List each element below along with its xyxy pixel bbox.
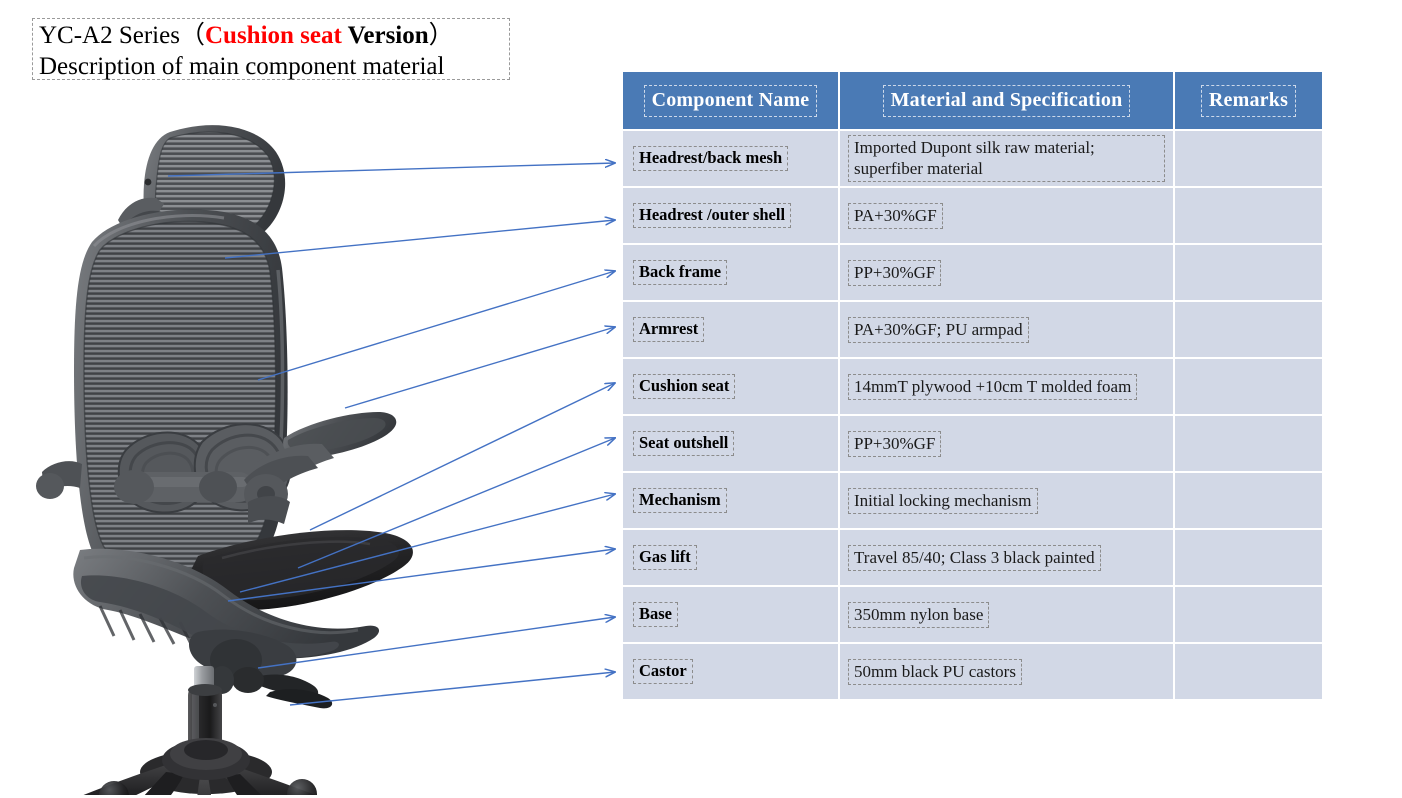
material-spec-value: Travel 85/40; Class 3 black painted [848, 545, 1101, 571]
cell-material-spec: 350mm nylon base [839, 586, 1174, 643]
material-spec-value: PA+30%GF; PU armpad [848, 317, 1029, 343]
cell-material-spec: Travel 85/40; Class 3 black painted [839, 529, 1174, 586]
material-spec-value: PP+30%GF [848, 431, 941, 457]
cell-component-name: Cushion seat [622, 358, 839, 415]
title-series: YC-A2 Series [39, 22, 180, 49]
poster-canvas: YC-A2 Series（Cushion seat Version） Descr… [0, 0, 1402, 798]
cell-remarks [1174, 358, 1323, 415]
table-row: Seat outshellPP+30%GF [622, 415, 1323, 472]
cell-material-spec: PA+30%GF [839, 187, 1174, 244]
header-component-name: Component Name [622, 71, 839, 130]
table-row: Headrest/back meshImported Dupont silk r… [622, 130, 1323, 187]
cell-material-spec: PP+30%GF [839, 244, 1174, 301]
table-header-row: Component Name Material and Specificatio… [622, 71, 1323, 130]
component-name-value: Castor [633, 659, 693, 684]
cell-component-name: Castor [622, 643, 839, 700]
cell-component-name: Base [622, 586, 839, 643]
chair-product-image [22, 120, 432, 795]
title-paren-open: （ [180, 22, 205, 49]
cell-material-spec: 14mmT plywood +10cm T molded foam [839, 358, 1174, 415]
material-spec-value: PP+30%GF [848, 260, 941, 286]
cell-remarks [1174, 529, 1323, 586]
header-remarks: Remarks [1174, 71, 1323, 130]
cell-component-name: Armrest [622, 301, 839, 358]
component-name-value: Headrest /outer shell [633, 203, 791, 228]
component-name-value: Cushion seat [633, 374, 735, 399]
cell-remarks [1174, 301, 1323, 358]
component-name-value: Headrest/back mesh [633, 146, 788, 171]
material-spec-value: Imported Dupont silk raw material; super… [848, 135, 1165, 182]
table-row: Back framePP+30%GF [622, 244, 1323, 301]
table-row: Cushion seat14mmT plywood +10cm T molded… [622, 358, 1323, 415]
table-body: Headrest/back meshImported Dupont silk r… [622, 130, 1323, 700]
cell-material-spec: PA+30%GF; PU armpad [839, 301, 1174, 358]
cell-component-name: Seat outshell [622, 415, 839, 472]
table-row: ArmrestPA+30%GF; PU armpad [622, 301, 1323, 358]
cell-material-spec: Initial locking mechanism [839, 472, 1174, 529]
header-remarks-label: Remarks [1201, 85, 1296, 117]
cell-component-name: Back frame [622, 244, 839, 301]
cell-remarks [1174, 187, 1323, 244]
table-row: Base350mm nylon base [622, 586, 1323, 643]
cell-component-name: Headrest/back mesh [622, 130, 839, 187]
component-name-value: Seat outshell [633, 431, 734, 456]
cell-material-spec: Imported Dupont silk raw material; super… [839, 130, 1174, 187]
header-material-spec: Material and Specification [839, 71, 1174, 130]
cell-material-spec: PP+30%GF [839, 415, 1174, 472]
cell-remarks [1174, 244, 1323, 301]
table-row: MechanismInitial locking mechanism [622, 472, 1323, 529]
material-spec-value: 50mm black PU castors [848, 659, 1022, 685]
cell-remarks [1174, 130, 1323, 187]
cell-remarks [1174, 472, 1323, 529]
cell-component-name: Gas lift [622, 529, 839, 586]
header-component-name-label: Component Name [644, 85, 818, 117]
material-spec-value: 14mmT plywood +10cm T molded foam [848, 374, 1137, 400]
header-material-spec-label: Material and Specification [883, 85, 1131, 117]
title-block: YC-A2 Series（Cushion seat Version） Descr… [32, 18, 510, 80]
cell-component-name: Mechanism [622, 472, 839, 529]
component-name-value: Back frame [633, 260, 727, 285]
component-name-value: Base [633, 602, 678, 627]
cell-material-spec: 50mm black PU castors [839, 643, 1174, 700]
cell-remarks [1174, 586, 1323, 643]
material-spec-value: Initial locking mechanism [848, 488, 1038, 514]
table-row: Gas liftTravel 85/40; Class 3 black pain… [622, 529, 1323, 586]
cell-component-name: Headrest /outer shell [622, 187, 839, 244]
material-spec-value: 350mm nylon base [848, 602, 989, 628]
title-line-1: YC-A2 Series（Cushion seat Version） [39, 20, 505, 51]
component-name-value: Gas lift [633, 545, 697, 570]
table-row: Headrest /outer shellPA+30%GF [622, 187, 1323, 244]
title-highlight: Cushion seat [205, 22, 342, 49]
cell-remarks [1174, 415, 1323, 472]
cell-remarks [1174, 643, 1323, 700]
title-version: Version [342, 22, 429, 49]
table-row: Castor50mm black PU castors [622, 643, 1323, 700]
component-name-value: Armrest [633, 317, 704, 342]
title-paren-close: ） [429, 22, 454, 49]
component-material-table: Component Name Material and Specificatio… [621, 70, 1324, 701]
component-name-value: Mechanism [633, 488, 727, 513]
title-line-2: Description of main component material [39, 51, 505, 82]
material-spec-value: PA+30%GF [848, 203, 943, 229]
